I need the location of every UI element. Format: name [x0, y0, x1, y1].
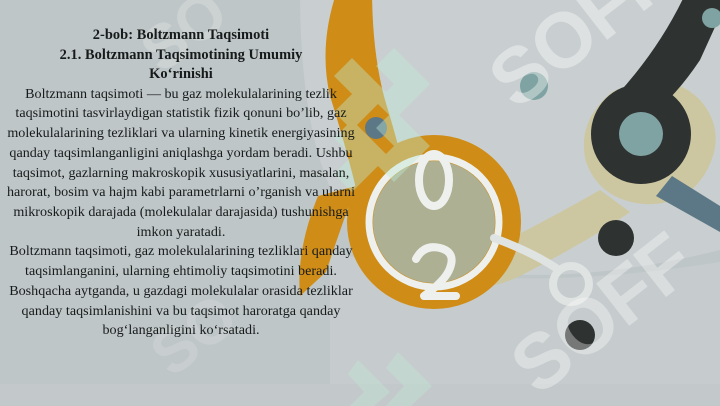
page-title-line-3: Ko‘rinishi [6, 65, 356, 85]
dark-atom-core [619, 112, 663, 156]
page-title-line-2: 2.1. Boltzmann Taqsimotining Umumiy [6, 46, 356, 66]
dot-teal-top [520, 72, 548, 100]
body-paragraph-1: Boltzmann taqsimoti — bu gaz molekulalar… [6, 85, 356, 243]
slide-text-column: 2-bob: Boltzmann Taqsimoti 2.1. Boltzman… [6, 26, 356, 341]
bg-strip-bottom [0, 384, 720, 406]
page-title-line-1: 2-bob: Boltzmann Taqsimoti [6, 26, 356, 46]
dot-dark-upper [598, 220, 634, 256]
slide-canvas: SO SOFF SOFF SO 2-bob: Boltzmann Taqsimo… [0, 0, 720, 406]
dot-dark-lower [565, 320, 595, 350]
dot-slate-left [365, 117, 387, 139]
body-paragraph-2: Boltzmann taqsimoti, gaz molekulalarinin… [6, 242, 356, 341]
